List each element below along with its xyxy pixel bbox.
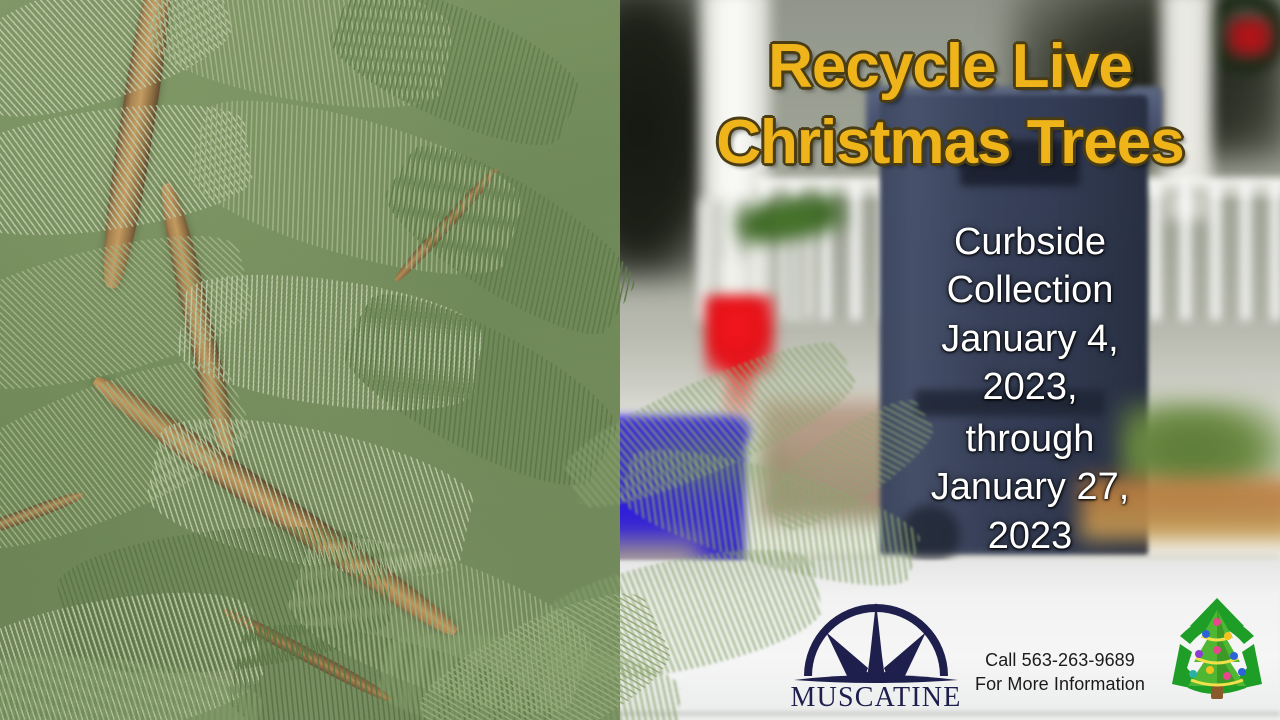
video-frame: Recycle Live Christmas Trees Curbside Co…: [0, 0, 1280, 720]
page-title-line-1: Recycle Live: [640, 36, 1260, 98]
collection-dates-primary: Curbside Collection January 4, 2023,: [905, 218, 1155, 411]
contact-info: Call 563-263-9689 For More Information: [960, 648, 1160, 697]
muscatine-city-logo: MUSCATINE: [786, 594, 966, 712]
contact-subtitle: For More Information: [960, 672, 1160, 696]
page-title-line-2: Christmas Trees: [640, 112, 1260, 174]
muscatine-wordmark: MUSCATINE: [790, 682, 961, 712]
contact-phone: Call 563-263-9689: [960, 648, 1160, 672]
collection-dates-secondary: through January 27, 2023: [905, 415, 1155, 560]
recycle-christmas-tree-logo: [1158, 592, 1276, 710]
